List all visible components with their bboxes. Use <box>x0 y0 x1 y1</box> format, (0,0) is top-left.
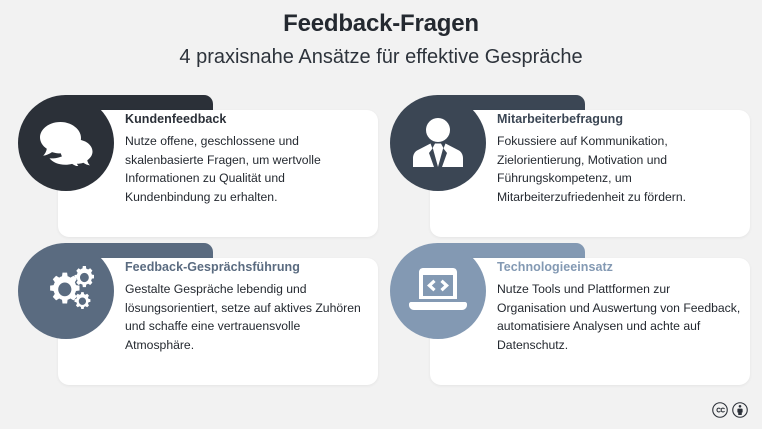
card-kundenfeedback[interactable]: Kundenfeedback Nutze offene, geschlossen… <box>18 95 378 237</box>
page-subtitle: 4 praxisnahe Ansätze für effektive Gespr… <box>0 39 762 70</box>
laptop-code-icon <box>390 243 486 339</box>
card-title: Mitarbeiterbefragung <box>497 112 742 127</box>
card-description: Fokussiere auf Kommunikation, Zielorient… <box>497 132 742 207</box>
card-title: Technologieeinsatz <box>497 260 742 275</box>
card-description: Nutze Tools und Plattformen zur Organisa… <box>497 280 742 355</box>
page-title: Feedback-Fragen <box>0 0 762 39</box>
card-grid: Kundenfeedback Nutze offene, geschlossen… <box>0 95 762 395</box>
business-person-icon <box>390 95 486 191</box>
header: Feedback-Fragen 4 praxisnahe Ansätze für… <box>0 0 762 70</box>
license-badges <box>712 402 748 418</box>
card-title: Kundenfeedback <box>125 112 370 127</box>
gears-icon <box>18 243 114 339</box>
infographic-page: Feedback-Fragen 4 praxisnahe Ansätze für… <box>0 0 762 429</box>
card-description: Nutze offene, geschlossene und skalenbas… <box>125 132 370 207</box>
speech-bubbles-icon <box>18 95 114 191</box>
card-feedback-gespraechsfuehrung[interactable]: Feedback-Gesprächsführung Gestalte Gespr… <box>18 243 378 385</box>
card-text: Technologieeinsatz Nutze Tools und Platt… <box>497 260 742 355</box>
card-technologieeinsatz[interactable]: Technologieeinsatz Nutze Tools und Platt… <box>390 243 750 385</box>
creative-commons-icon <box>712 402 728 418</box>
card-text: Kundenfeedback Nutze offene, geschlossen… <box>125 112 370 207</box>
card-description: Gestalte Gespräche lebendig und lösungso… <box>125 280 370 355</box>
attribution-icon <box>732 402 748 418</box>
card-mitarbeiterbefragung[interactable]: Mitarbeiterbefragung Fokussiere auf Komm… <box>390 95 750 237</box>
card-text: Feedback-Gesprächsführung Gestalte Gespr… <box>125 260 370 355</box>
card-text: Mitarbeiterbefragung Fokussiere auf Komm… <box>497 112 742 207</box>
card-title: Feedback-Gesprächsführung <box>125 260 370 275</box>
